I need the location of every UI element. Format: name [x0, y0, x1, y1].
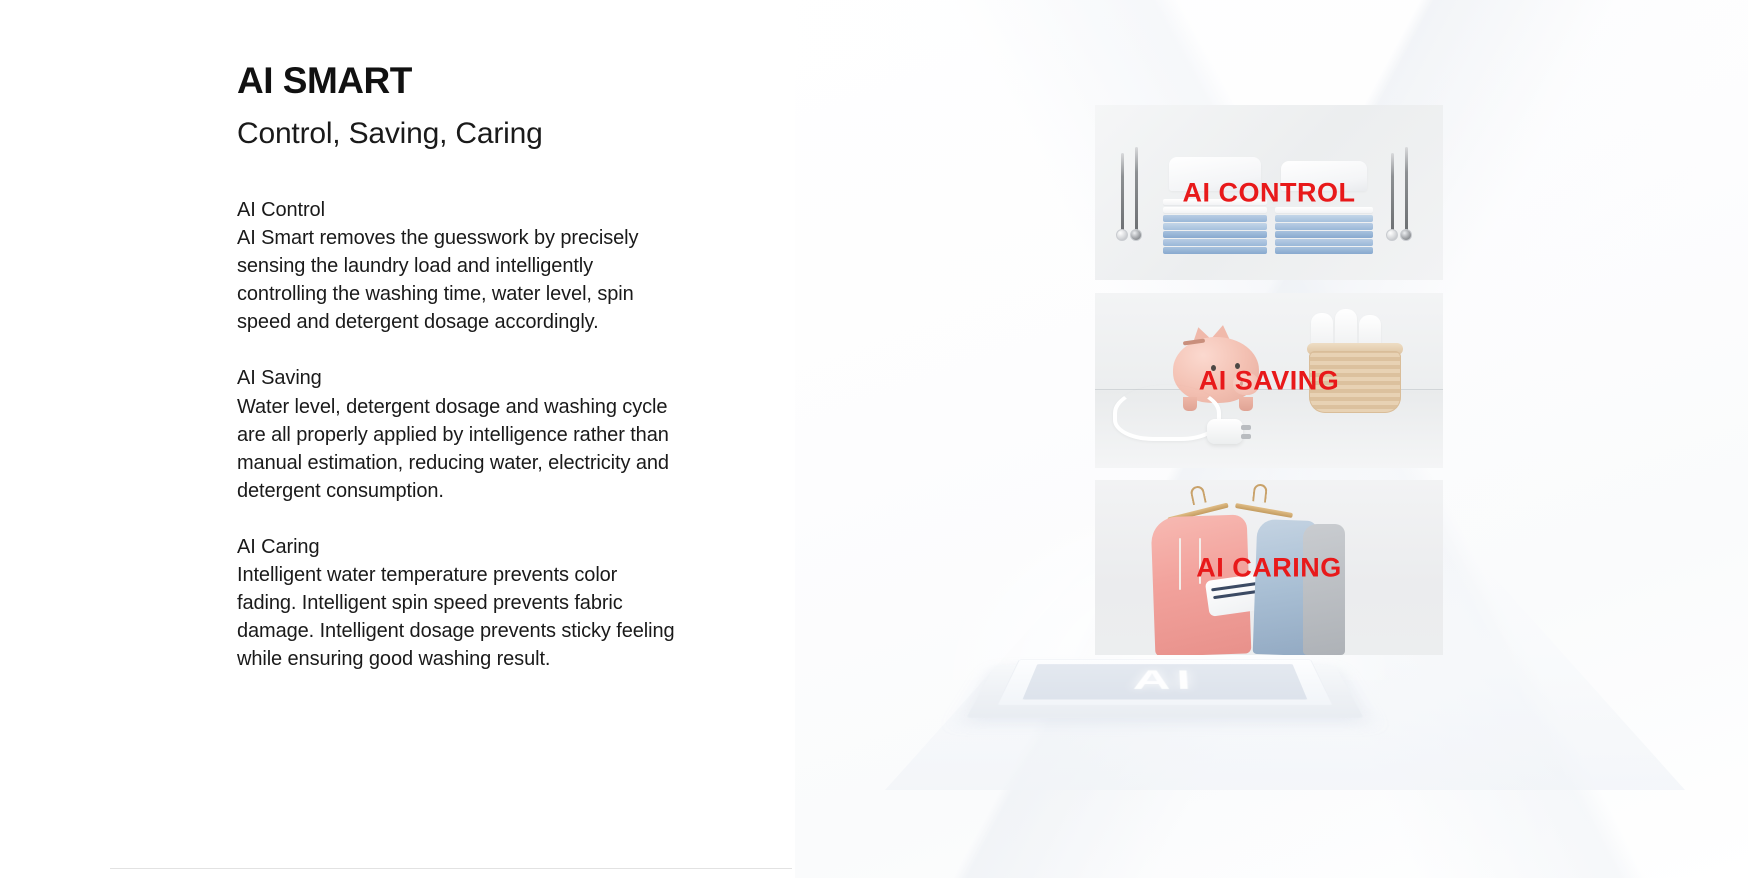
feature-heading: AI Saving — [237, 364, 677, 392]
card-label: AI CARING — [1095, 554, 1443, 581]
card-label: AI SAVING — [1095, 367, 1443, 394]
illustration-panel: AI CONTROL — [795, 0, 1748, 878]
feature-body: Intelligent water temperature prevents c… — [237, 561, 677, 673]
plug-pin-icon — [1241, 425, 1251, 430]
section-divider — [110, 868, 792, 869]
feature-heading: AI Control — [237, 196, 677, 224]
grey-garment — [1303, 524, 1345, 655]
ai-pedestal: AI — [964, 653, 1366, 722]
rod-knob-icon — [1116, 229, 1128, 241]
rod-knob-icon — [1400, 229, 1412, 241]
text-panel: AI SMART Control, Saving, Caring AI Cont… — [0, 0, 880, 878]
pedestal-ai-label: AI — [1025, 667, 1305, 694]
towel — [1311, 313, 1333, 347]
laundry-stack — [1275, 206, 1373, 254]
hanger-hook-icon — [1252, 483, 1268, 502]
hanger-bar-icon — [1235, 503, 1293, 518]
plug-pin-icon — [1241, 434, 1251, 439]
card-label: AI CONTROL — [1095, 179, 1443, 206]
feature-body: AI Smart removes the guesswork by precis… — [237, 224, 677, 336]
power-plug-icon — [1207, 419, 1243, 444]
feature-block-ai-caring: AI Caring Intelligent water temperature … — [237, 533, 677, 673]
page-title: AI SMART — [237, 60, 412, 103]
hanger-hook-icon — [1189, 485, 1206, 506]
feature-description-list: AI Control AI Smart removes the guesswor… — [237, 196, 677, 673]
pedestal-plate: AI — [1022, 664, 1307, 699]
page-subtitle: Control, Saving, Caring — [237, 116, 543, 152]
feature-block-ai-control: AI Control AI Smart removes the guesswor… — [237, 196, 677, 336]
rod-knob-icon — [1130, 229, 1142, 241]
ai-smart-feature-page: AI SMART Control, Saving, Caring AI Cont… — [0, 0, 1748, 878]
towel — [1335, 309, 1357, 347]
feature-heading: AI Caring — [237, 533, 677, 561]
feature-card-ai-control[interactable]: AI CONTROL — [1095, 105, 1443, 280]
piggy-leg — [1239, 397, 1253, 411]
feature-block-ai-saving: AI Saving Water level, detergent dosage … — [237, 364, 677, 504]
rod-knob-icon — [1386, 229, 1398, 241]
feature-body: Water level, detergent dosage and washin… — [237, 393, 677, 505]
feature-card-ai-saving[interactable]: AI SAVING — [1095, 293, 1443, 468]
feature-card-ai-caring[interactable]: AI CARING — [1095, 480, 1443, 655]
